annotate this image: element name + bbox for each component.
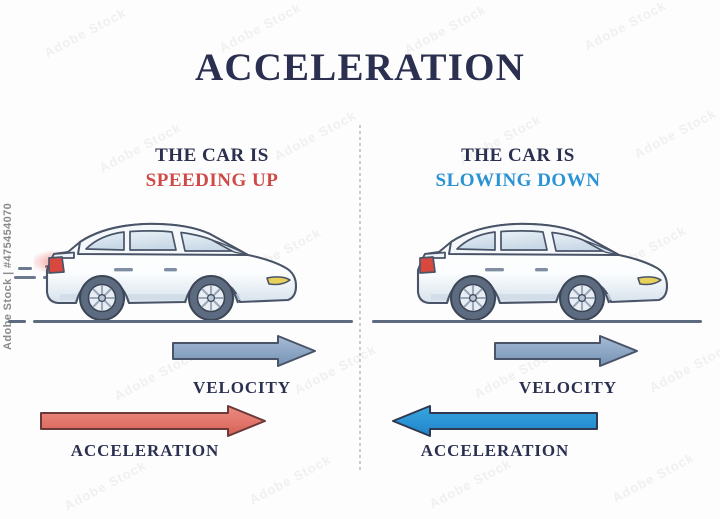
velocity-label-right: VELOCITY xyxy=(418,378,718,398)
rear-wheel xyxy=(451,276,495,320)
door-handle xyxy=(164,268,177,271)
panel-heading-right-line1: THE CAR IS xyxy=(338,143,698,168)
ground-line-right xyxy=(372,320,702,323)
acceleration-diagram: Adobe Stock Adobe Stock Adobe Stock Adob… xyxy=(0,0,720,519)
taillight xyxy=(49,257,64,273)
rear-door-window xyxy=(130,231,176,250)
velocity-arrow-right xyxy=(492,334,640,373)
door-handle xyxy=(485,268,504,271)
acceleration-arrow-left xyxy=(38,404,268,443)
panel-heading-right: THE CAR IS SLOWING DOWN xyxy=(338,143,698,193)
door-handle xyxy=(535,268,548,271)
watermark-tile: Adobe Stock xyxy=(427,456,514,512)
velocity-arrow-shape xyxy=(173,336,315,366)
panel-heading-right-line2: SLOWING DOWN xyxy=(338,168,698,193)
front-wheel xyxy=(560,276,604,320)
car-illustration-left xyxy=(34,218,302,327)
front-wheel xyxy=(189,276,233,320)
velocity-arrow-left xyxy=(170,334,318,373)
taillight xyxy=(420,257,435,273)
ground-dash xyxy=(8,320,26,323)
velocity-arrow-shape xyxy=(495,336,637,366)
page-title: ACCELERATION xyxy=(0,45,720,90)
car-illustration-right xyxy=(405,218,673,327)
acceleration-arrow-shape xyxy=(393,406,597,436)
acceleration-arrow-shape xyxy=(41,406,265,436)
adobe-stock-watermark: Adobe Stock | #475454070 xyxy=(2,180,14,350)
watermark-tile: Adobe Stock xyxy=(62,458,149,514)
motion-line xyxy=(14,276,36,279)
acceleration-label-left: ACCELERATION xyxy=(0,441,295,461)
rear-door-window xyxy=(501,231,547,250)
rear-wheel xyxy=(80,276,124,320)
motion-line xyxy=(18,267,32,270)
ground-line-left xyxy=(33,320,353,323)
velocity-label-left: VELOCITY xyxy=(92,378,392,398)
acceleration-label-right: ACCELERATION xyxy=(345,441,645,461)
acceleration-arrow-right xyxy=(390,404,600,443)
door-handle xyxy=(114,268,133,271)
